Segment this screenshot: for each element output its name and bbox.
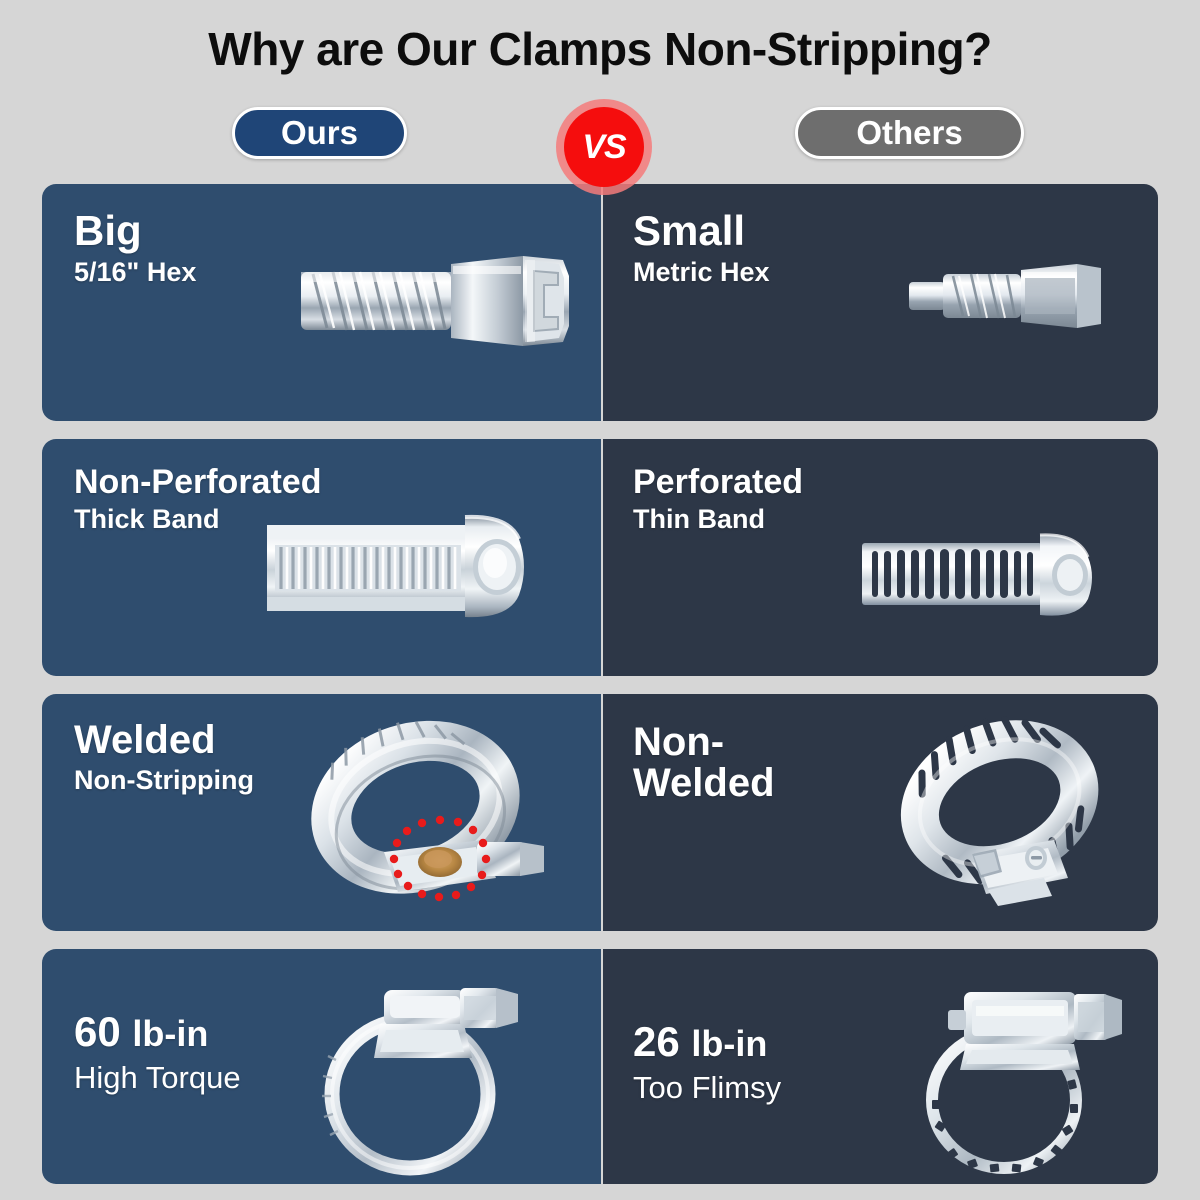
badge-row: Ours VS Others (0, 107, 1200, 169)
others-subline: Metric Hex (633, 257, 1158, 288)
ours-label-group: Non-Perforated Thick Band (42, 465, 601, 535)
ours-headline: Big (74, 210, 601, 253)
others-subline: Thin Band (633, 504, 1158, 535)
ours-label-group: Big 5/16" Hex (42, 210, 601, 288)
others-badge: Others (795, 107, 1024, 159)
ours-subline: Thick Band (74, 504, 601, 535)
others-label-group: Non- Welded (601, 720, 1158, 804)
others-label-group: 26 lb-in Too Flimsy (601, 975, 1158, 1105)
ours-subline: Non-Stripping (74, 765, 601, 796)
others-cell-band-type: Perforated Thin Band (601, 439, 1158, 676)
comparison-row-band-type: Non-Perforated Thick Band (42, 439, 1158, 676)
weld-highlight-dots (390, 816, 490, 901)
others-subline: Too Flimsy (633, 1070, 1158, 1106)
others-badge-label: Others (856, 114, 962, 152)
ours-subline: 5/16" Hex (74, 257, 601, 288)
ours-label-group: Welded Non-Stripping (42, 720, 601, 796)
others-headline: Small (633, 210, 1158, 253)
vs-marker: VS (556, 99, 652, 195)
vs-circle: VS (564, 107, 644, 187)
others-headline: Perforated (633, 465, 1158, 500)
ours-cell-weld: Welded Non-Stripping (42, 694, 601, 931)
ours-cell-band-type: Non-Perforated Thick Band (42, 439, 601, 676)
page-title: Why are Our Clamps Non-Stripping? (0, 22, 1200, 76)
perforated-thin-band-image (856, 519, 1111, 629)
ours-torque-unit: lb-in (132, 1013, 208, 1054)
comparison-row-hex-size: Big 5/16" Hex (42, 184, 1158, 421)
others-headline-line1: Non- (633, 722, 1158, 763)
ours-torque-headline: 60 lb-in (74, 1011, 601, 1054)
comparison-row-torque: 60 lb-in High Torque (42, 949, 1158, 1184)
ours-badge: Ours (232, 107, 407, 159)
vs-label: VS (582, 128, 625, 167)
others-label-group: Small Metric Hex (601, 210, 1158, 288)
others-label-group: Perforated Thin Band (601, 465, 1158, 535)
others-cell-torque: 26 lb-in Too Flimsy (601, 949, 1158, 1184)
ours-cell-torque: 60 lb-in High Torque (42, 949, 601, 1184)
ours-headline: Non-Perforated (74, 465, 601, 500)
comparison-row-weld: Welded Non-Stripping (42, 694, 1158, 931)
comparison-table: Big 5/16" Hex (42, 184, 1158, 1184)
ours-torque-value: 60 (74, 1008, 121, 1055)
others-cell-hex-size: Small Metric Hex (601, 184, 1158, 421)
ours-badge-label: Ours (281, 114, 358, 152)
ours-cell-hex-size: Big 5/16" Hex (42, 184, 601, 421)
others-headline-line2: Welded (633, 763, 1158, 804)
ours-label-group: 60 lb-in High Torque (42, 975, 601, 1095)
others-torque-value: 26 (633, 1018, 680, 1065)
others-torque-headline: 26 lb-in (633, 1021, 1158, 1064)
ours-headline: Welded (74, 720, 601, 761)
others-torque-unit: lb-in (691, 1023, 767, 1064)
ours-subline: High Torque (74, 1060, 601, 1096)
others-cell-weld: Non- Welded (601, 694, 1158, 931)
